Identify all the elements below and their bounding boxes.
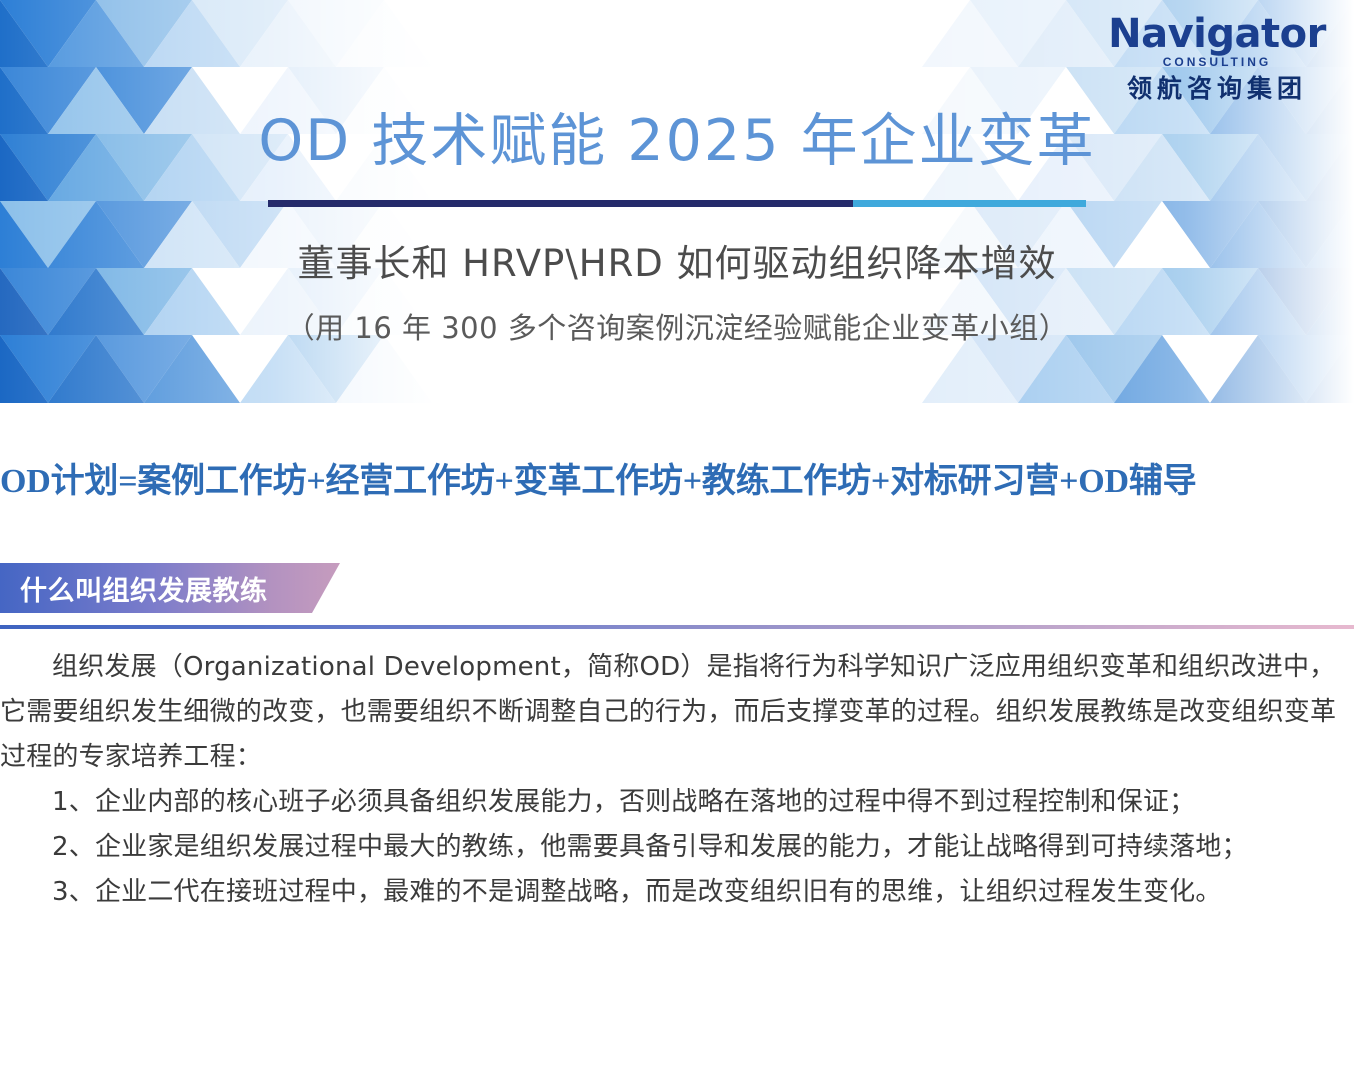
logo-tagline: CONSULTING <box>1102 56 1332 68</box>
body-paragraph: 3、企业二代在接班过程中，最难的不是调整战略，而是改变组织旧有的思维，让组织过程… <box>0 870 1354 915</box>
section-divider-rule <box>0 625 1354 629</box>
section-body: 组织发展（Organizational Development，简称OD）是指将… <box>0 645 1354 915</box>
section-header-banner: 什么叫组织发展教练 <box>0 563 1354 613</box>
body-paragraph: 1、企业内部的核心班子必须具备组织发展能力，否则战略在落地的过程中得不到过程控制… <box>0 780 1354 825</box>
section-header-label: 什么叫组织发展教练 <box>0 569 268 608</box>
section-header-shape: 什么叫组织发展教练 <box>0 563 340 613</box>
body-paragraph: 2、企业家是组织发展过程中最大的教练，他需要具备引导和发展的能力，才能让战略得到… <box>0 825 1354 870</box>
logo-chinese-name: 领航咨询集团 <box>1102 76 1332 101</box>
company-logo: Navigator CONSULTING 领航咨询集团 <box>1102 14 1332 101</box>
logo-wordmark: Navigator <box>1102 14 1332 54</box>
program-headline: OD计划=案例工作坊+经营工作坊+变革工作坊+教练工作坊+对标研习营+OD辅导 <box>0 462 1354 503</box>
body-paragraph: 组织发展（Organizational Development，简称OD）是指将… <box>0 645 1354 780</box>
hero-banner: OD 技术赋能 2025 年企业变革 董事长和 HRVP\HRD 如何驱动组织降… <box>0 0 1354 403</box>
